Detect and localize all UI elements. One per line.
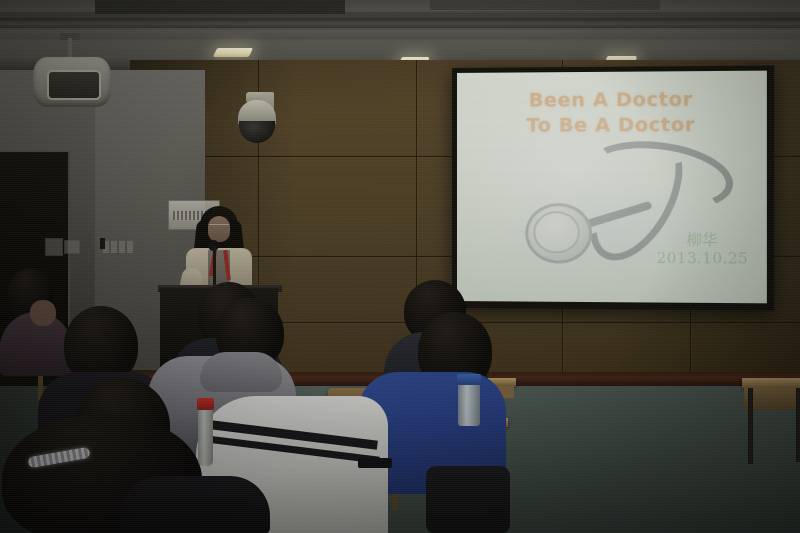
ceiling-recess-panel-2 — [430, 0, 660, 10]
ceiling-beam — [0, 18, 800, 28]
ceiling-recess-panel — [95, 0, 345, 14]
lecture-hall-photo: Been A Doctor To Be A Doctor 柳华 2013.10.… — [0, 0, 800, 533]
speaker-grille — [47, 70, 101, 100]
thermos-cap — [457, 374, 481, 385]
attendee-foreground-shoulder — [120, 476, 270, 533]
slide-title-line-2: To Be A Doctor — [457, 112, 767, 138]
presenter-name: 柳华 — [656, 230, 748, 249]
slide-signature: 柳华 2013.10.25 — [656, 230, 748, 268]
recessed-light-icon-1 — [213, 48, 253, 57]
presentation-date: 2013.10.25 — [656, 249, 748, 268]
presenter-face — [208, 216, 230, 242]
wall-switch-2[interactable] — [111, 241, 117, 253]
projection-screen[interactable]: Been A Doctor To Be A Doctor 柳华 2013.10.… — [452, 65, 774, 310]
wall-outlet-plate[interactable] — [64, 240, 80, 254]
screen-surface: Been A Doctor To Be A Doctor 柳华 2013.10.… — [457, 71, 767, 304]
slide-title: Been A Doctor To Be A Doctor — [457, 87, 767, 138]
attendee-lower-body — [426, 466, 510, 533]
desk-leg — [748, 388, 753, 464]
water-bottle[interactable] — [198, 404, 213, 466]
wall-switch-plate[interactable] — [45, 238, 63, 256]
empty-desk[interactable] — [742, 378, 800, 388]
presenter-glasses — [209, 224, 229, 229]
wall-switch-3[interactable] — [119, 241, 125, 253]
slide-title-line-1: Been A Doctor — [457, 87, 767, 114]
wall-switch-4[interactable] — [127, 241, 133, 253]
hoodie-hood — [200, 352, 282, 392]
ceiling-beam-lower — [0, 30, 800, 39]
thermos-bottle[interactable] — [458, 382, 480, 426]
desk-leg — [796, 388, 800, 462]
shirt-logo — [358, 458, 392, 468]
water-bottle-cap — [197, 398, 214, 410]
microphone-stem — [213, 246, 216, 288]
screen-hanger-left — [100, 238, 105, 249]
attendee-hand — [30, 300, 56, 326]
